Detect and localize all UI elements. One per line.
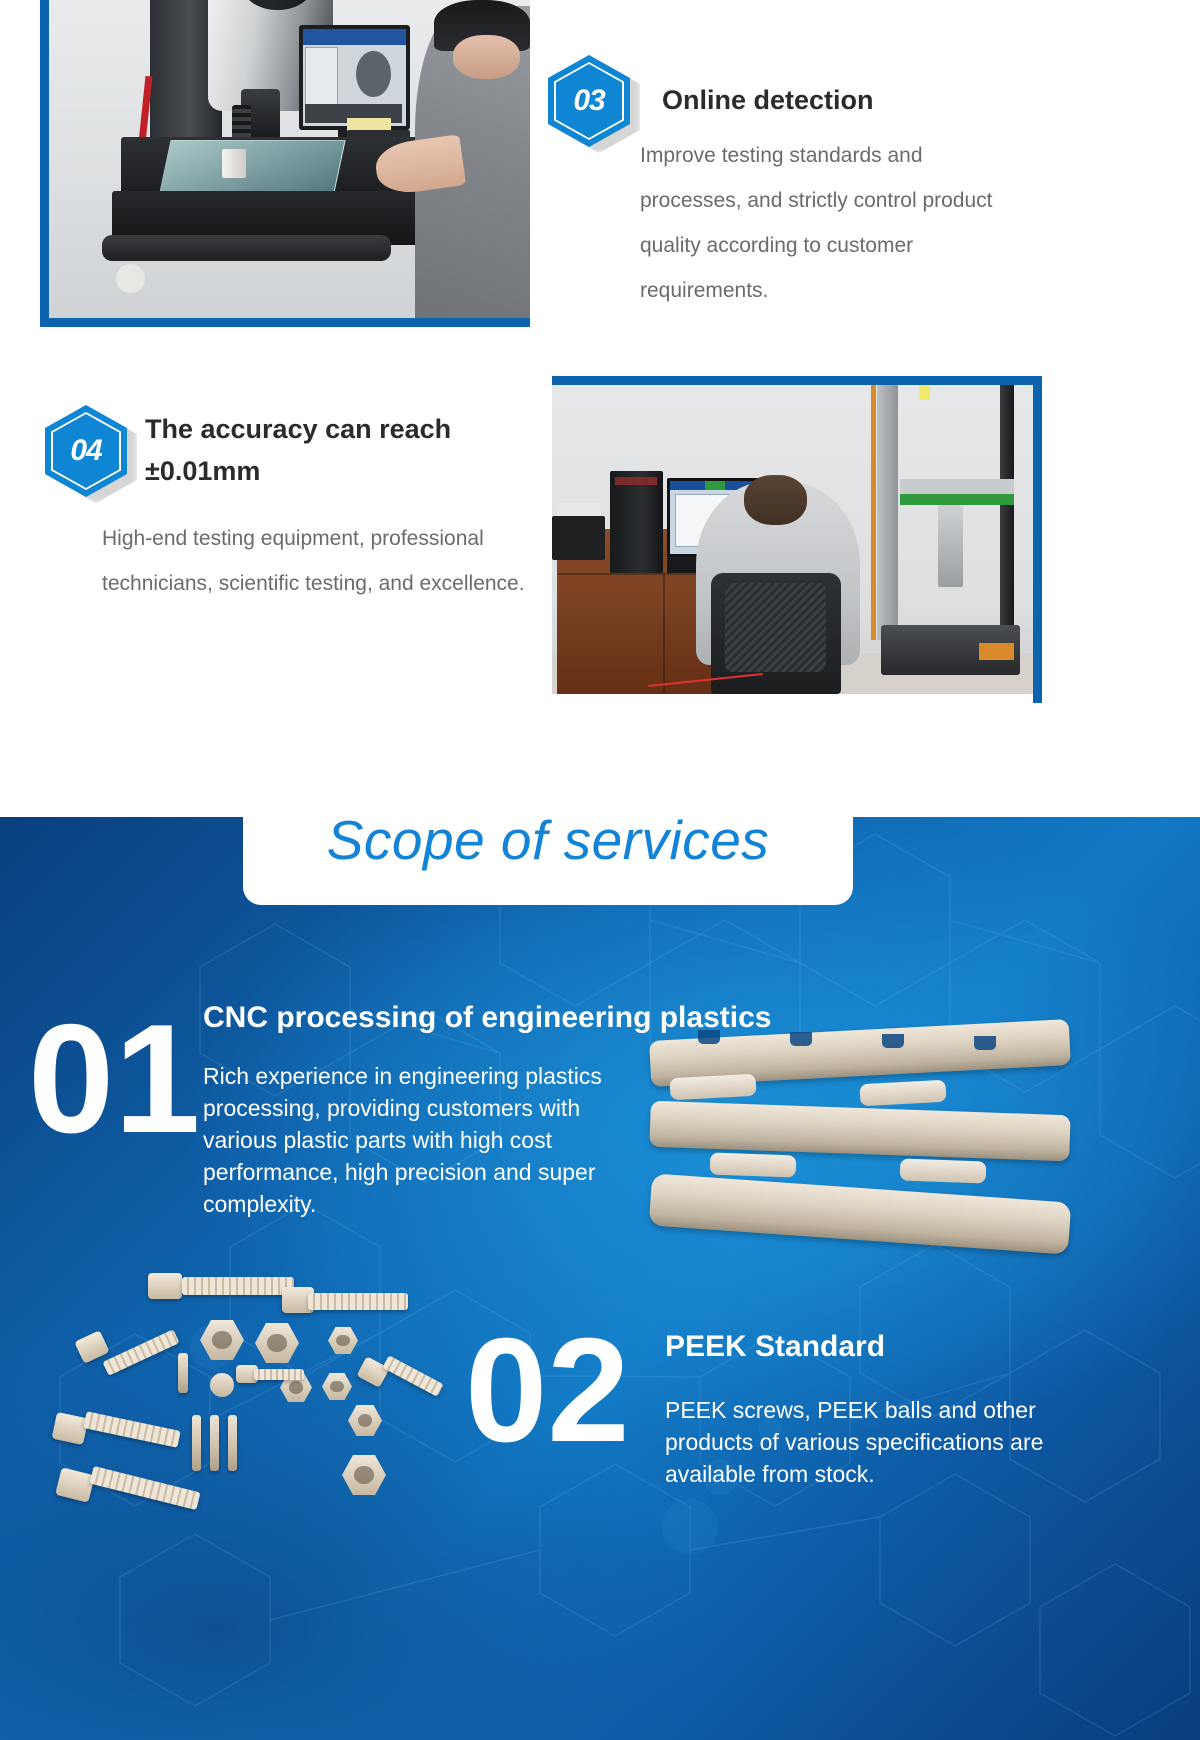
card-body-online-detection: Improve testing standards and processes,…: [640, 133, 1020, 313]
card-title-online-detection: Online detection: [662, 79, 1082, 121]
product-image-peek-chain: [650, 1030, 1070, 1255]
product-image-peek-screws: [40, 1265, 470, 1565]
service-title-peek: PEEK Standard: [665, 1330, 1095, 1364]
service-number-02: 02: [465, 1317, 630, 1465]
badge-number-03: 03: [548, 55, 630, 147]
badge-hexagon-03: 03: [548, 55, 630, 147]
card-body-accuracy: High-end testing equipment, professional…: [102, 516, 532, 606]
service-body-peek: PEEK screws, PEEK balls and other produc…: [665, 1394, 1095, 1490]
section-title-box: Scope of services: [243, 817, 853, 905]
service-number-01: 01: [28, 1001, 200, 1156]
badge-number-04: 04: [45, 405, 127, 497]
service-body-cnc: Rich experience in engineering plastics …: [203, 1060, 633, 1220]
section-title-text: Scope of services: [327, 817, 770, 872]
photo-tensile-testing-lab: [552, 376, 1033, 694]
card-title-accuracy: The accuracy can reach ±0.01mm: [145, 408, 505, 492]
top-feature-section: VML300 03 Online detection Improve testi…: [0, 0, 1200, 817]
scope-of-services-section: Scope of services 01 CNC processing of e…: [0, 817, 1200, 1740]
photo-frame-testing-lab: [552, 376, 1042, 703]
photo-optical-measuring-machine: VML300: [49, 0, 530, 318]
badge-hexagon-04: 04: [45, 405, 127, 497]
photo-frame-online-detection: VML300: [40, 0, 530, 327]
